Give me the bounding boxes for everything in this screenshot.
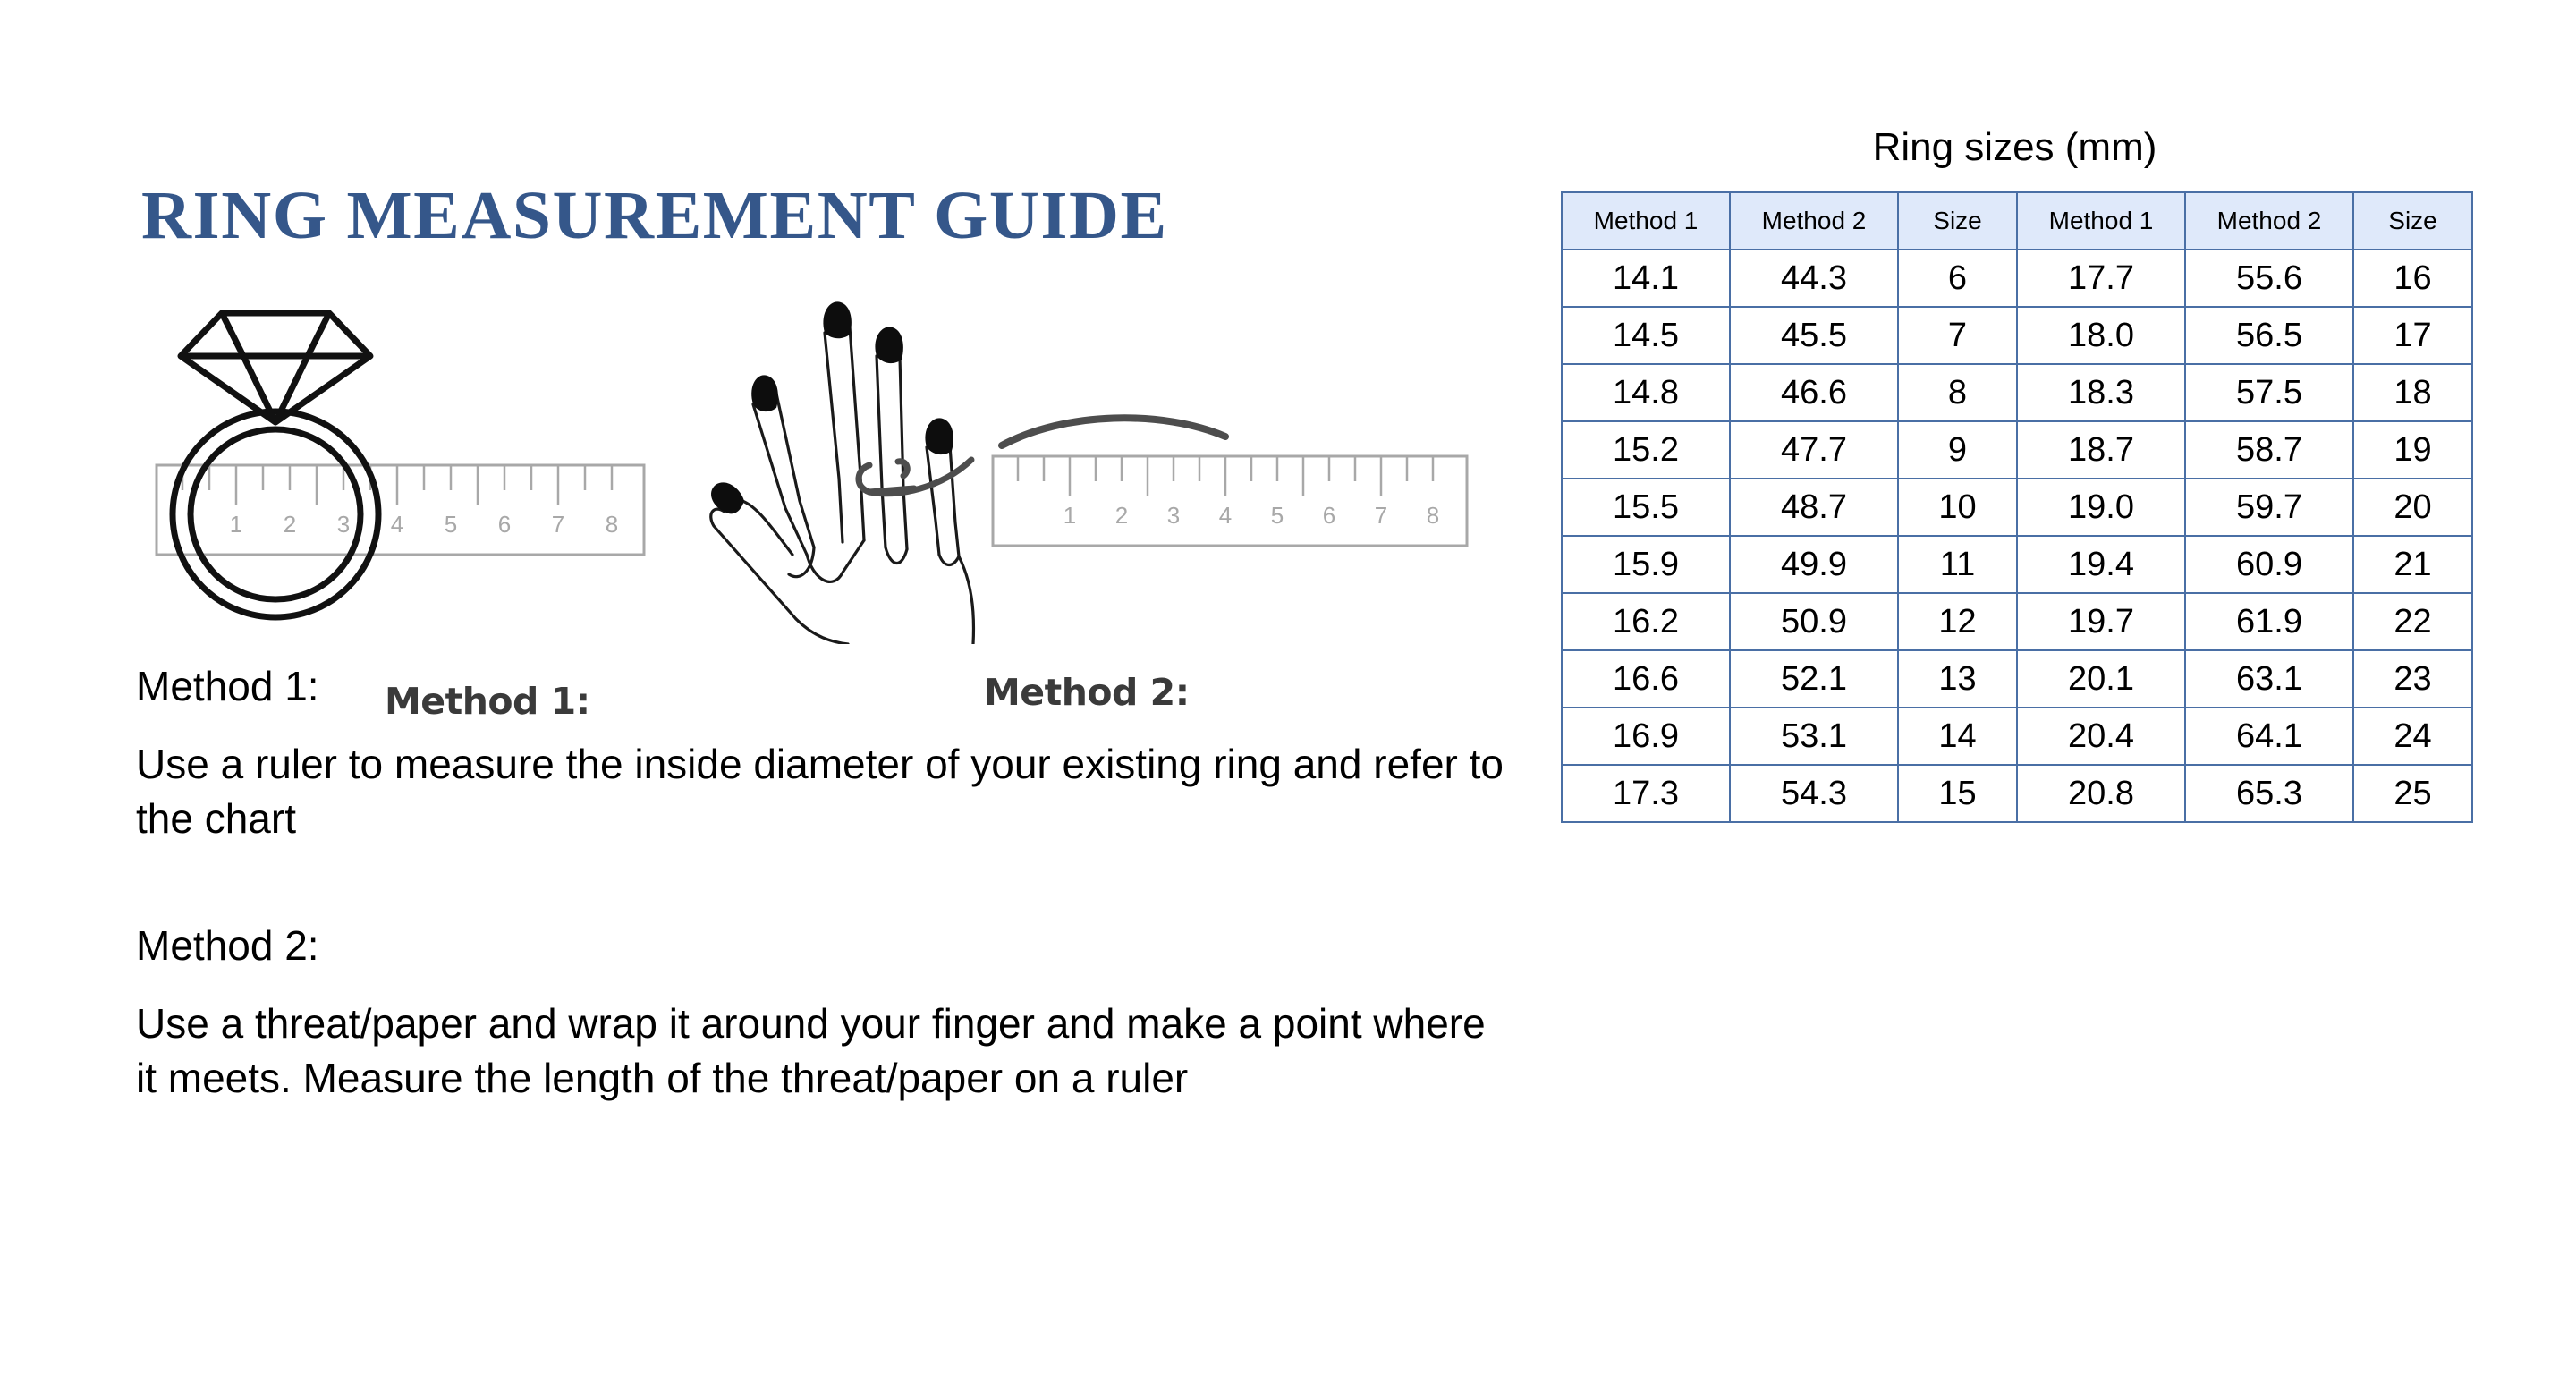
table-header-cell-1: Method 2 xyxy=(1730,192,1898,250)
table-cell-col5: 20 xyxy=(2353,479,2472,536)
table-cell-col2: 8 xyxy=(1898,364,2017,421)
ring-sizes-table: Method 1Method 2SizeMethod 1Method 2Size… xyxy=(1561,191,2473,823)
table-cell-col3: 18.0 xyxy=(2017,307,2185,364)
table-cell-col2: 7 xyxy=(1898,307,2017,364)
table-cell-col3: 20.8 xyxy=(2017,765,2185,822)
table-cell-col5: 18 xyxy=(2353,364,2472,421)
table-cell-col4: 61.9 xyxy=(2185,593,2353,650)
svg-text:8: 8 xyxy=(606,511,618,538)
table-cell-col3: 19.7 xyxy=(2017,593,2185,650)
table-cell-col5: 21 xyxy=(2353,536,2472,593)
table-cell-col4: 55.6 xyxy=(2185,250,2353,307)
table-cell-col3: 18.3 xyxy=(2017,364,2185,421)
method2-description-block: Method 2: Use a threat/paper and wrap it… xyxy=(136,921,1513,1106)
table-header-cell-4: Method 2 xyxy=(2185,192,2353,250)
table-cell-col3: 17.7 xyxy=(2017,250,2185,307)
ruler-icon: 1 2 3 4 5 6 7 8 xyxy=(993,456,1467,546)
table-row: 17.354.31520.865.325 xyxy=(1562,765,2472,822)
table-cell-col4: 60.9 xyxy=(2185,536,2353,593)
svg-text:1: 1 xyxy=(230,511,242,538)
page-title: RING MEASUREMENT GUIDE xyxy=(141,177,1168,255)
table-cell-col2: 9 xyxy=(1898,421,2017,479)
svg-text:5: 5 xyxy=(445,511,457,538)
table-cell-col5: 16 xyxy=(2353,250,2472,307)
svg-text:5: 5 xyxy=(1271,502,1284,529)
svg-text:4: 4 xyxy=(1219,502,1232,529)
table-cell-col4: 56.5 xyxy=(2185,307,2353,364)
table-cell-col0: 14.8 xyxy=(1562,364,1730,421)
svg-text:3: 3 xyxy=(1167,502,1180,529)
table-cell-col4: 57.5 xyxy=(2185,364,2353,421)
table-header-row: Method 1Method 2SizeMethod 1Method 2Size xyxy=(1562,192,2472,250)
svg-text:6: 6 xyxy=(498,511,511,538)
table-cell-col4: 59.7 xyxy=(2185,479,2353,536)
table-header-cell-3: Method 1 xyxy=(2017,192,2185,250)
table-cell-col4: 65.3 xyxy=(2185,765,2353,822)
table-cell-col5: 22 xyxy=(2353,593,2472,650)
svg-text:1: 1 xyxy=(1063,502,1076,529)
table-cell-col1: 49.9 xyxy=(1730,536,1898,593)
table-row: 16.953.11420.464.124 xyxy=(1562,708,2472,765)
table-cell-col0: 15.5 xyxy=(1562,479,1730,536)
svg-text:7: 7 xyxy=(552,511,564,538)
method1-label: Method 1: xyxy=(136,662,1513,710)
table-cell-col3: 19.4 xyxy=(2017,536,2185,593)
svg-text:7: 7 xyxy=(1375,502,1387,529)
table-cell-col0: 15.2 xyxy=(1562,421,1730,479)
table-header-cell-5: Size xyxy=(2353,192,2472,250)
method2-text: Use a threat/paper and wrap it around yo… xyxy=(136,997,1513,1106)
table-cell-col5: 24 xyxy=(2353,708,2472,765)
table-cell-col0: 16.6 xyxy=(1562,650,1730,708)
table-cell-col2: 11 xyxy=(1898,536,2017,593)
table-cell-col5: 17 xyxy=(2353,307,2472,364)
table-cell-col2: 12 xyxy=(1898,593,2017,650)
ruler-icon: 1 2 3 4 5 6 7 8 xyxy=(157,465,644,555)
method1-text: Use a ruler to measure the inside diamet… xyxy=(136,737,1513,846)
diamond-ring-ruler-illustration: 1 2 3 4 5 6 7 8 xyxy=(125,286,680,626)
table-cell-col1: 48.7 xyxy=(1730,479,1898,536)
table-cell-col0: 15.9 xyxy=(1562,536,1730,593)
table-cell-col2: 6 xyxy=(1898,250,2017,307)
table-cell-col1: 54.3 xyxy=(1730,765,1898,822)
table-cell-col2: 14 xyxy=(1898,708,2017,765)
thread-measured-icon xyxy=(1002,418,1225,445)
table-header-cell-2: Size xyxy=(1898,192,2017,250)
table-cell-col0: 17.3 xyxy=(1562,765,1730,822)
table-cell-col2: 13 xyxy=(1898,650,2017,708)
svg-text:6: 6 xyxy=(1323,502,1335,529)
table-body: 14.144.3617.755.61614.545.5718.056.51714… xyxy=(1562,250,2472,822)
table-row: 15.548.71019.059.720 xyxy=(1562,479,2472,536)
table-row: 14.144.3617.755.616 xyxy=(1562,250,2472,307)
table-row: 16.250.91219.761.922 xyxy=(1562,593,2472,650)
table-cell-col1: 44.3 xyxy=(1730,250,1898,307)
table-cell-col3: 19.0 xyxy=(2017,479,2185,536)
table-cell-col0: 14.1 xyxy=(1562,250,1730,307)
table-cell-col4: 58.7 xyxy=(2185,421,2353,479)
ring-sizes-panel: Ring sizes (mm) Method 1Method 2SizeMeth… xyxy=(1561,125,2469,823)
table-cell-col2: 10 xyxy=(1898,479,2017,536)
table-cell-col2: 15 xyxy=(1898,765,2017,822)
hand-thread-ruler-illustration: 1 2 3 4 5 6 7 8 xyxy=(707,286,1485,644)
table-cell-col0: 16.9 xyxy=(1562,708,1730,765)
guide-left-panel: RING MEASUREMENT GUIDE xyxy=(0,0,1521,1374)
table-cell-col3: 20.4 xyxy=(2017,708,2185,765)
table-cell-col1: 53.1 xyxy=(1730,708,1898,765)
table-row: 15.949.91119.460.921 xyxy=(1562,536,2472,593)
table-row: 14.545.5718.056.517 xyxy=(1562,307,2472,364)
table-cell-col1: 45.5 xyxy=(1730,307,1898,364)
table-cell-col1: 46.6 xyxy=(1730,364,1898,421)
table-cell-col4: 63.1 xyxy=(2185,650,2353,708)
table-cell-col0: 14.5 xyxy=(1562,307,1730,364)
svg-text:3: 3 xyxy=(337,511,350,538)
svg-text:4: 4 xyxy=(391,511,403,538)
table-cell-col5: 19 xyxy=(2353,421,2472,479)
method2-label: Method 2: xyxy=(136,921,1513,970)
table-cell-col1: 47.7 xyxy=(1730,421,1898,479)
svg-text:2: 2 xyxy=(1115,502,1128,529)
svg-text:2: 2 xyxy=(284,511,296,538)
method1-description-block: Method 1: Use a ruler to measure the ins… xyxy=(136,662,1513,846)
table-header-cell-0: Method 1 xyxy=(1562,192,1730,250)
thread-icon xyxy=(859,460,971,494)
table-cell-col1: 50.9 xyxy=(1730,593,1898,650)
table-cell-col5: 23 xyxy=(2353,650,2472,708)
table-cell-col5: 25 xyxy=(2353,765,2472,822)
table-cell-col3: 18.7 xyxy=(2017,421,2185,479)
table-row: 15.247.7918.758.719 xyxy=(1562,421,2472,479)
illustrations-row: 1 2 3 4 5 6 7 8 xyxy=(0,286,1521,662)
table-row: 14.846.6818.357.518 xyxy=(1562,364,2472,421)
table-cell-col4: 64.1 xyxy=(2185,708,2353,765)
table-cell-col3: 20.1 xyxy=(2017,650,2185,708)
diamond-icon xyxy=(181,313,370,422)
table-row: 16.652.11320.163.123 xyxy=(1562,650,2472,708)
table-cell-col1: 52.1 xyxy=(1730,650,1898,708)
svg-text:8: 8 xyxy=(1427,502,1439,529)
table-title: Ring sizes (mm) xyxy=(1561,125,2469,170)
table-cell-col0: 16.2 xyxy=(1562,593,1730,650)
